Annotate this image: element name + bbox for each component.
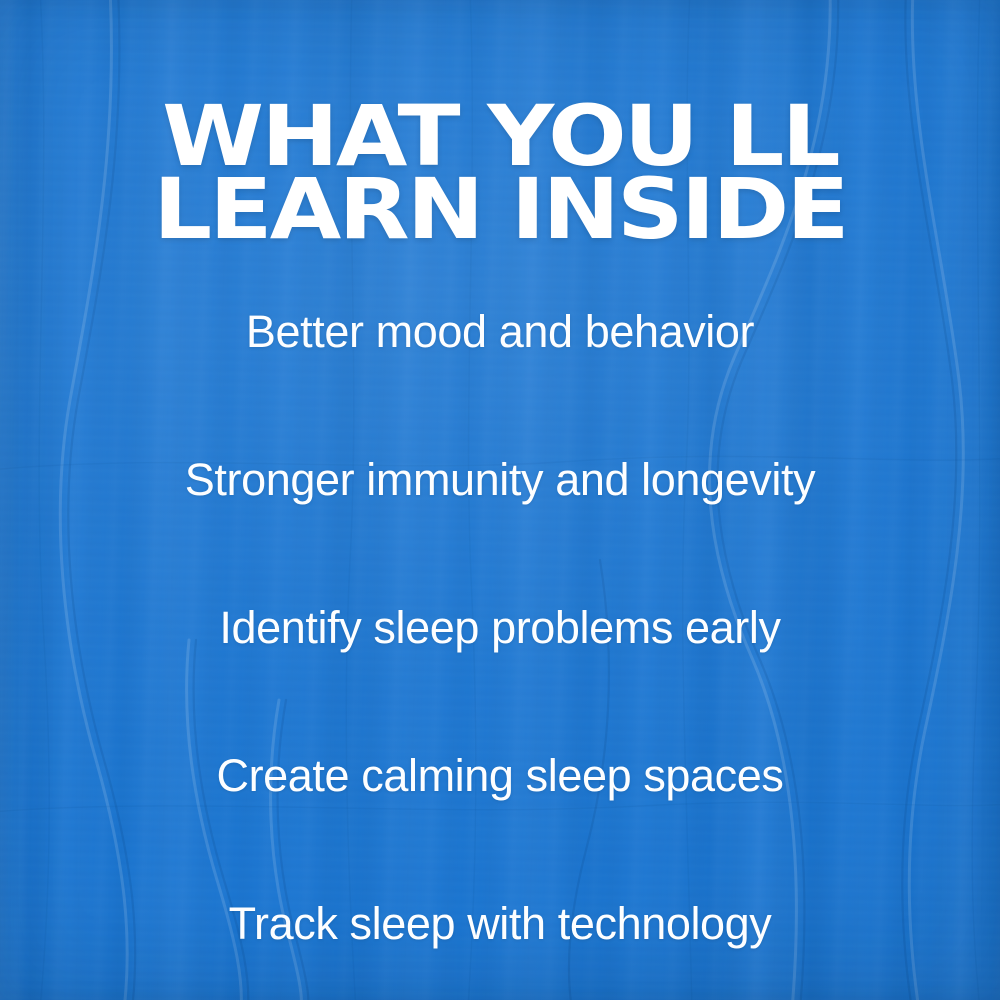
poster-canvas: WHAT YOU LL LEARN INSIDE Better mood and…: [0, 0, 1000, 1000]
poster-content: WHAT YOU LL LEARN INSIDE Better mood and…: [0, 0, 1000, 1000]
list-item-label: Stronger immunity and longevity: [185, 454, 815, 506]
list-item-label: Create calming sleep spaces: [217, 750, 784, 802]
list-item: Create calming sleep spaces: [0, 702, 1000, 850]
list-item: Better mood and behavior: [0, 258, 1000, 406]
list-item: Identify sleep problems early: [0, 554, 1000, 702]
page-title: WHAT YOU LL LEARN INSIDE: [0, 100, 1000, 244]
list-item-label: Better mood and behavior: [246, 306, 754, 358]
list-item-label: Track sleep with technology: [229, 898, 772, 950]
benefits-list: Better mood and behavior Stronger immuni…: [0, 258, 1000, 998]
list-item-label: Identify sleep problems early: [219, 602, 780, 654]
list-item: Stronger immunity and longevity: [0, 406, 1000, 554]
list-item: Track sleep with technology: [0, 850, 1000, 998]
